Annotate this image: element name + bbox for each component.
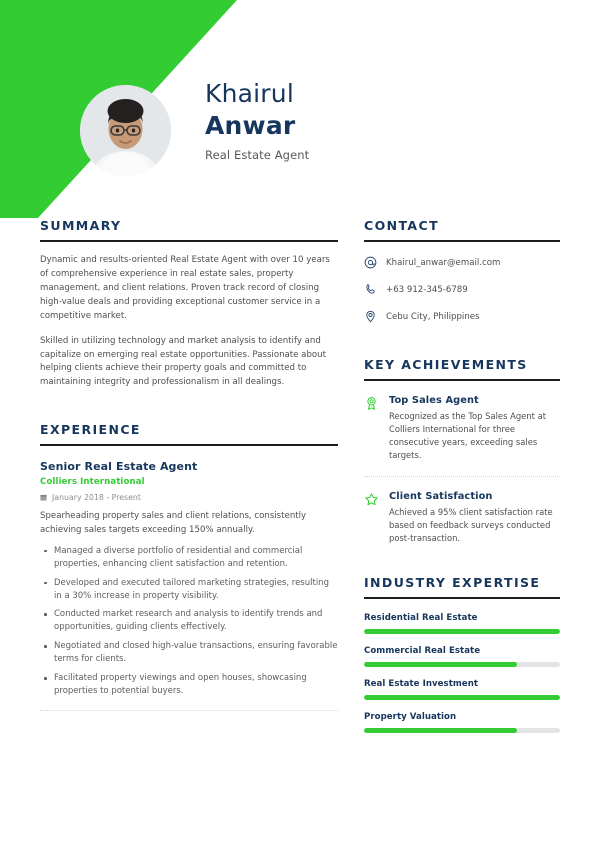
- achievement-description: Recognized as the Top Sales Agent at Col…: [389, 410, 560, 462]
- email-at-icon: [364, 256, 377, 269]
- skill-label: Residential Real Estate: [364, 613, 560, 623]
- contact-item-email[interactable]: Khairul_anwar@email.com: [364, 256, 560, 269]
- contact-item-location[interactable]: Cebu City, Philippines: [364, 310, 560, 323]
- skill-fill: [364, 662, 517, 667]
- achievements-rule: [364, 379, 560, 381]
- skill-fill: [364, 629, 560, 634]
- location-pin-icon: [364, 310, 377, 323]
- skill-label: Real Estate Investment: [364, 679, 560, 689]
- job-bullet: Managed a diverse portfolio of residenti…: [40, 545, 338, 571]
- skill-track: [364, 695, 560, 700]
- experience-divider: [40, 710, 338, 711]
- award-medal-icon: [364, 396, 379, 411]
- resume-header: Khairul Anwar Real Estate Agent: [0, 0, 600, 218]
- achievements-section: KEY ACHIEVEMENTS Top Sales Agent Recogni…: [364, 357, 560, 545]
- expertise-heading: INDUSTRY EXPERTISE: [364, 575, 560, 590]
- left-column: SUMMARY Dynamic and results-oriented Rea…: [40, 218, 338, 713]
- achievements-heading: KEY ACHIEVEMENTS: [364, 357, 560, 372]
- achievement-item: Client Satisfaction Achieved a 95% clien…: [364, 491, 560, 545]
- skill-item: Commercial Real Estate: [364, 646, 560, 667]
- skill-label: Property Valuation: [364, 712, 560, 722]
- avatar: [80, 85, 171, 176]
- achievement-divider: [364, 476, 560, 477]
- job-bullet-list: Managed a diverse portfolio of residenti…: [40, 545, 338, 698]
- contact-item-phone[interactable]: +63 912-345-6789: [364, 283, 560, 296]
- skill-item: Residential Real Estate: [364, 613, 560, 634]
- skill-label: Commercial Real Estate: [364, 646, 560, 656]
- name-block: Khairul Anwar Real Estate Agent: [205, 80, 309, 162]
- achievement-title: Client Satisfaction: [389, 491, 560, 502]
- summary-section: SUMMARY Dynamic and results-oriented Rea…: [40, 218, 338, 390]
- achievement-title: Top Sales Agent: [389, 395, 560, 406]
- achievement-item: Top Sales Agent Recognized as the Top Sa…: [364, 395, 560, 462]
- experience-section: EXPERIENCE Senior Real Estate Agent Coll…: [40, 422, 338, 711]
- header-job-title: Real Estate Agent: [205, 148, 309, 162]
- person-photo-icon: [80, 85, 171, 176]
- job-bullet: Conducted market research and analysis t…: [40, 608, 338, 634]
- contact-section: CONTACT Khairul_anwar@email.com: [364, 218, 560, 323]
- skill-track: [364, 662, 560, 667]
- summary-paragraph: Skilled in utilizing technology and mark…: [40, 335, 338, 391]
- job-date-row: January 2018 - Present: [40, 493, 338, 502]
- skill-fill: [364, 728, 517, 733]
- summary-paragraph: Dynamic and results-oriented Real Estate…: [40, 254, 338, 324]
- contact-heading: CONTACT: [364, 218, 560, 233]
- job-date: January 2018 - Present: [52, 493, 141, 502]
- contact-list: Khairul_anwar@email.com +63 912-345-6789: [364, 256, 560, 323]
- calendar-icon: [40, 494, 47, 501]
- job-bullet: Developed and executed tailored marketin…: [40, 577, 338, 603]
- expertise-section: INDUSTRY EXPERTISE Residential Real Esta…: [364, 575, 560, 733]
- experience-heading: EXPERIENCE: [40, 422, 338, 437]
- phone-icon: [364, 283, 377, 296]
- achievements-list: Top Sales Agent Recognized as the Top Sa…: [364, 395, 560, 545]
- summary-heading: SUMMARY: [40, 218, 338, 233]
- right-column: CONTACT Khairul_anwar@email.com: [364, 218, 560, 735]
- skill-item: Property Valuation: [364, 712, 560, 733]
- skill-track: [364, 629, 560, 634]
- skill-list: Residential Real Estate Commercial Real …: [364, 613, 560, 733]
- achievement-description: Achieved a 95% client satisfaction rate …: [389, 506, 560, 545]
- last-name: Anwar: [205, 110, 309, 141]
- skill-item: Real Estate Investment: [364, 679, 560, 700]
- experience-item: Senior Real Estate Agent Colliers Intern…: [40, 460, 338, 711]
- job-bullet: Negotiated and closed high-value transac…: [40, 640, 338, 666]
- job-company: Colliers International: [40, 477, 338, 487]
- job-bullet: Facilitated property viewings and open h…: [40, 672, 338, 698]
- summary-rule: [40, 240, 338, 242]
- contact-value: +63 912-345-6789: [386, 285, 468, 295]
- skill-track: [364, 728, 560, 733]
- first-name: Khairul: [205, 80, 309, 108]
- job-role: Senior Real Estate Agent: [40, 460, 338, 473]
- contact-rule: [364, 240, 560, 242]
- expertise-rule: [364, 597, 560, 599]
- experience-rule: [40, 444, 338, 446]
- skill-fill: [364, 695, 560, 700]
- contact-value: Khairul_anwar@email.com: [386, 258, 500, 268]
- resume-page: Khairul Anwar Real Estate Agent SUMMARY …: [0, 0, 600, 850]
- contact-value: Cebu City, Philippines: [386, 312, 480, 322]
- star-icon: [364, 492, 379, 507]
- job-description: Spearheading property sales and client r…: [40, 510, 338, 538]
